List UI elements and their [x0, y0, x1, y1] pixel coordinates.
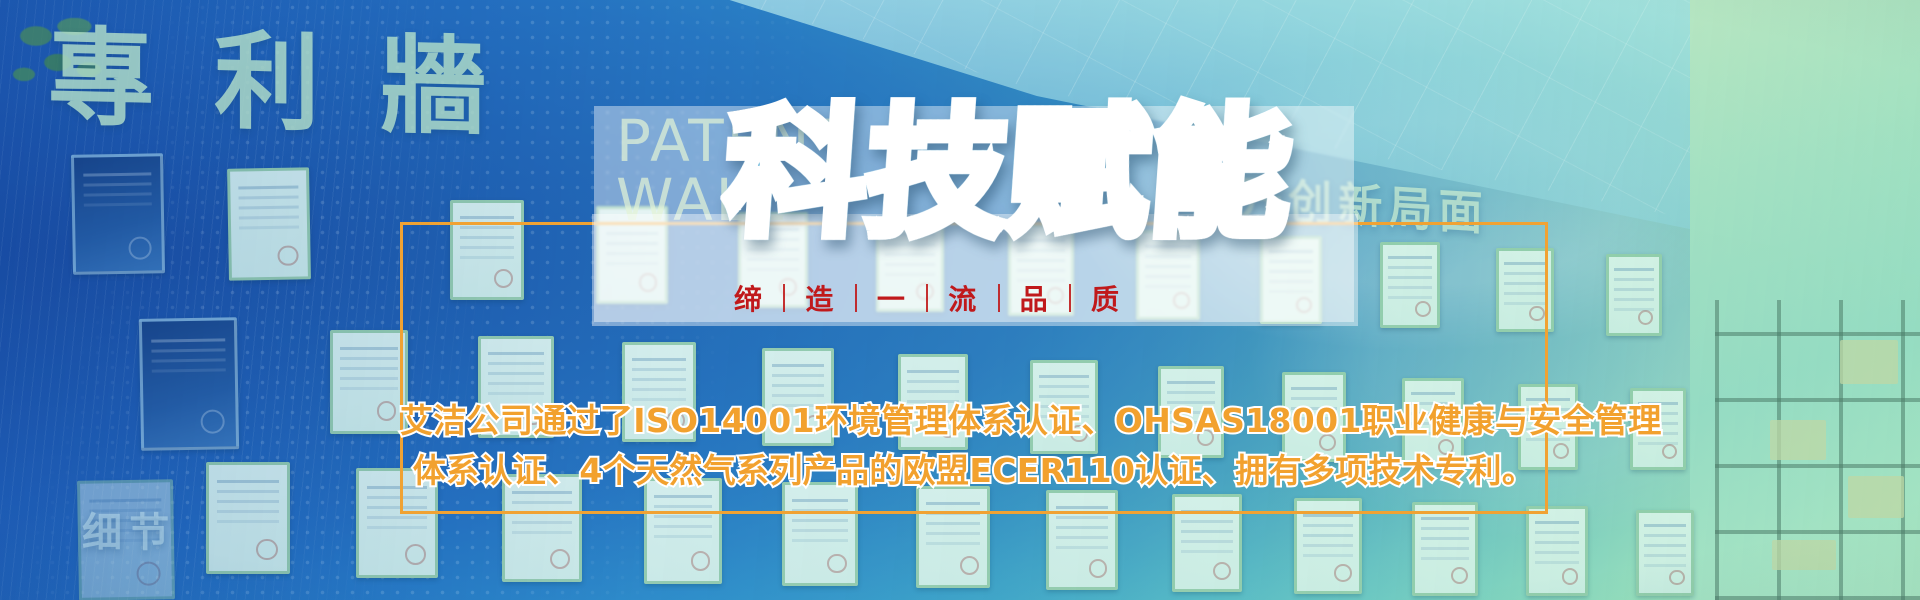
sub-slogan-word-2: 造 [805, 278, 834, 318]
wall-title-patent-wall: 專利牆 [48, 20, 546, 147]
description-text: 艾洁公司通过了ISO14001环境管理体系认证、OHSAS18001职业健康与安… [400, 396, 1548, 496]
wall-detail-label: 细节 [82, 500, 176, 558]
sub-slogan-separator [1069, 284, 1071, 312]
sub-slogan: 缔 造 一 流 品 质 [714, 278, 1140, 318]
headline-keji-funeng: 科技赋能 [721, 104, 1296, 244]
sub-slogan-word-1: 缔 [734, 278, 763, 318]
sub-slogan-separator [926, 284, 928, 312]
sub-slogan-word-4: 流 [948, 278, 977, 318]
sub-slogan-word-3: 一 [877, 278, 906, 318]
wall-title-char-3: 牆 [380, 28, 488, 145]
wall-title-char-1: 專 [48, 20, 156, 137]
sub-slogan-word-6: 质 [1091, 278, 1120, 318]
patent-wall-banner: 專利牆 开创新局面 细节 PATENT WALL 科技赋能 缔 造 一 流 品 … [0, 0, 1920, 600]
sub-slogan-separator [998, 284, 1000, 312]
sub-slogan-separator [783, 284, 785, 312]
sub-slogan-word-5: 品 [1020, 278, 1049, 318]
description-line-2: 体系认证、4个天然气系列产品的欧盟ECER110认证、拥有多项技术专利。 [400, 446, 1548, 496]
wall-title-char-2: 利 [214, 24, 322, 141]
description-line-1: 艾洁公司通过了ISO14001环境管理体系认证、OHSAS18001职业健康与安… [400, 396, 1548, 446]
sub-slogan-separator [855, 284, 857, 312]
